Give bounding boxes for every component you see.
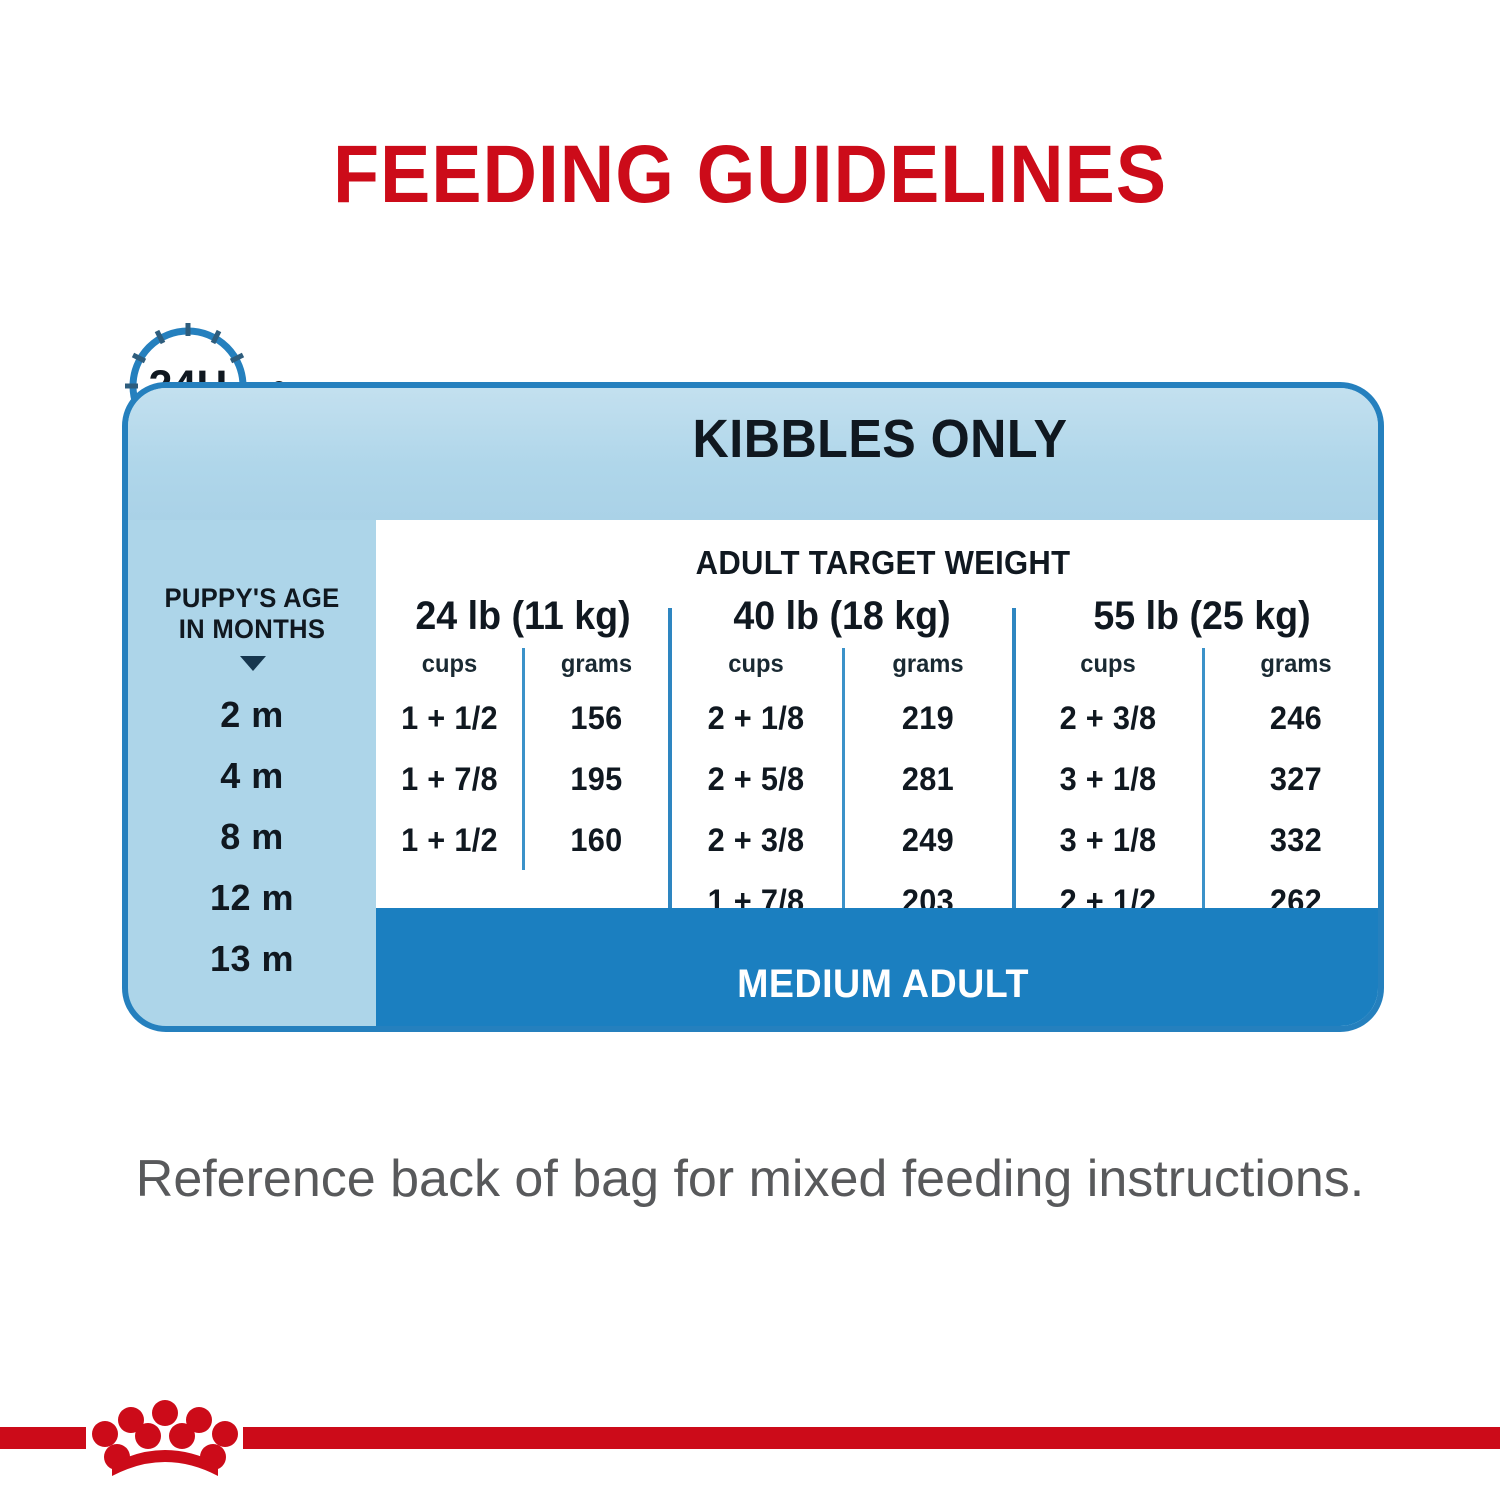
age-row-label: 8 m bbox=[128, 806, 376, 867]
weight-groups-grid: 24 lb (11 kg) cups 1 + 1/2 1 + 7/8 1 + 1… bbox=[376, 520, 1384, 970]
table-cell: 3 + 1/8 bbox=[1018, 749, 1198, 810]
table-cell: 195 bbox=[526, 749, 667, 810]
table-cell: 332 bbox=[1206, 810, 1384, 871]
weight-group-label: 40 lb (18 kg) bbox=[680, 594, 1003, 639]
subcolumn-cells: 156 195 160 bbox=[523, 688, 670, 871]
table-cell: 156 bbox=[526, 688, 667, 749]
medium-adult-label: MEDIUM ADULT bbox=[406, 962, 1359, 1007]
group-divider bbox=[1012, 608, 1016, 931]
feeding-table-panel: KIBBLES ONLY PUPPY'S AGE IN MONTHS 2 m 4… bbox=[122, 382, 1384, 1032]
table-cell: 2 + 3/8 bbox=[1018, 688, 1198, 749]
table-cell: 2 + 3/8 bbox=[673, 810, 838, 871]
subcolumn-header: cups bbox=[380, 650, 520, 679]
column-divider bbox=[1202, 648, 1205, 931]
weight-group-40lb: 40 lb (18 kg) cups 2 + 1/8 2 + 5/8 2 + 3… bbox=[670, 520, 1014, 970]
table-cell: 1 + 1/2 bbox=[379, 810, 520, 871]
table-cell: 327 bbox=[1206, 749, 1384, 810]
subcolumn-cells: 2 + 3/8 3 + 1/8 3 + 1/8 2 + 1/2 bbox=[1014, 688, 1202, 932]
feeding-guidelines-page: FEEDING GUIDELINES 24H bbox=[0, 0, 1500, 1500]
chevron-down-icon bbox=[240, 656, 266, 671]
weight-group-label: 55 lb (25 kg) bbox=[1025, 594, 1378, 639]
page-title: FEEDING GUIDELINES bbox=[60, 128, 1440, 222]
subcolumn-header: cups bbox=[674, 650, 837, 679]
kibbles-only-heading: KIBBLES ONLY bbox=[411, 408, 1348, 470]
table-cell: 2 + 5/8 bbox=[673, 749, 838, 810]
table-cell: 1 + 7/8 bbox=[379, 749, 520, 810]
table-cell: 219 bbox=[845, 688, 1010, 749]
puppy-age-heading: PUPPY'S AGE IN MONTHS bbox=[134, 583, 370, 645]
age-row-label: 2 m bbox=[128, 684, 376, 745]
table-cell: 3 + 1/8 bbox=[1018, 810, 1198, 871]
age-row-label: 12 m bbox=[128, 867, 376, 928]
puppy-age-heading-line2: IN MONTHS bbox=[134, 614, 370, 645]
subcolumn-header: cups bbox=[1019, 650, 1198, 679]
subcolumn-header: grams bbox=[527, 650, 667, 679]
table-cell: 281 bbox=[845, 749, 1010, 810]
subcolumn-header: grams bbox=[846, 650, 1009, 679]
column-divider bbox=[522, 648, 525, 870]
age-row-label: 4 m bbox=[128, 745, 376, 806]
subcolumn-header: grams bbox=[1207, 650, 1384, 679]
feeding-data-table: ADULT TARGET WEIGHT 24 lb (11 kg) cups 1… bbox=[376, 520, 1384, 970]
table-cell: 249 bbox=[845, 810, 1010, 871]
subcolumn-cells: 219 281 249 203 bbox=[842, 688, 1014, 932]
royal-canin-logo-bar bbox=[0, 1372, 1500, 1500]
weight-group-label: 24 lb (11 kg) bbox=[385, 594, 661, 639]
table-cell: 1 + 1/2 bbox=[379, 688, 520, 749]
table-cell: 160 bbox=[526, 810, 667, 871]
puppy-age-column: PUPPY'S AGE IN MONTHS 2 m 4 m 8 m 12 m 1… bbox=[128, 388, 376, 1026]
footer-note: Reference back of bag for mixed feeding … bbox=[0, 1148, 1500, 1210]
age-row-label: 13 m bbox=[128, 928, 376, 989]
subcolumn-cells: 2 + 1/8 2 + 5/8 2 + 3/8 1 + 7/8 bbox=[670, 688, 842, 932]
table-cell: 2 + 1/8 bbox=[673, 688, 838, 749]
puppy-age-heading-line1: PUPPY'S AGE bbox=[134, 583, 370, 614]
weight-group-24lb: 24 lb (11 kg) cups 1 + 1/2 1 + 7/8 1 + 1… bbox=[376, 520, 670, 970]
column-divider bbox=[842, 648, 845, 931]
subcolumn-cells: 1 + 1/2 1 + 7/8 1 + 1/2 bbox=[376, 688, 523, 871]
royal-canin-crown-logo bbox=[0, 1372, 1500, 1500]
table-cell: 246 bbox=[1206, 688, 1384, 749]
group-divider bbox=[668, 608, 672, 931]
subcolumn-cells: 246 327 332 262 bbox=[1202, 688, 1384, 932]
weight-group-55lb: 55 lb (25 kg) cups 2 + 3/8 3 + 1/8 3 + 1… bbox=[1014, 520, 1384, 970]
puppy-age-rows: 2 m 4 m 8 m 12 m 13 m bbox=[128, 684, 376, 989]
